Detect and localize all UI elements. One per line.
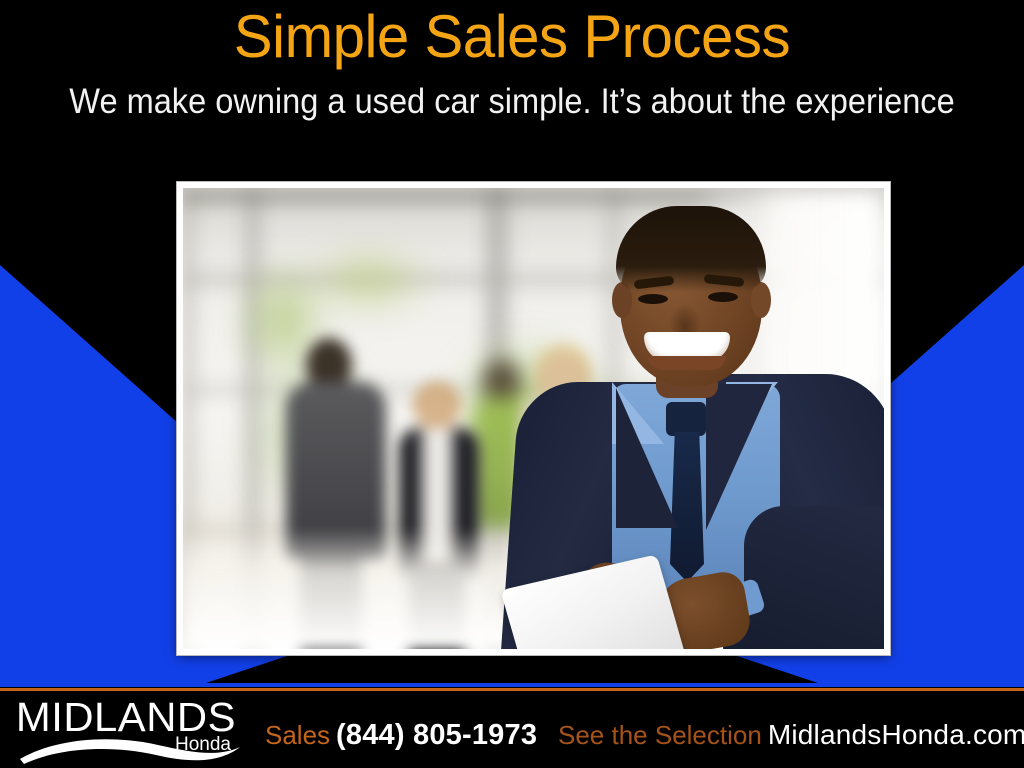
page-title: Simple Sales Process: [15, 4, 1008, 70]
header: Simple Sales Process We make owning a us…: [0, 0, 1024, 145]
lower-lip: [648, 356, 726, 370]
hero-photo-frame: [177, 182, 890, 655]
suit-lapel-left: [616, 388, 678, 528]
logo-sub-brand-text: Honda: [175, 735, 231, 755]
website-url[interactable]: MidlandsHonda.com: [768, 719, 1024, 750]
page-subtitle: We make owning a used car simple. It’s a…: [36, 82, 988, 122]
sales-contact[interactable]: Sales(844) 805-1973: [265, 719, 537, 752]
divider-blue: [0, 683, 1024, 687]
selection-cta[interactable]: See the SelectionMidlandsHonda.com: [558, 719, 1024, 751]
eye-left: [638, 294, 668, 304]
eye-right: [708, 292, 738, 302]
suit-lapel-right: [706, 384, 772, 530]
footer-bar: MIDLANDS Honda Sales(844) 805-1973 See t…: [0, 691, 1024, 768]
sales-phone-number[interactable]: (844) 805-1973: [336, 719, 537, 751]
slide-canvas: Simple Sales Process We make owning a us…: [0, 0, 1024, 768]
sales-label: Sales: [265, 720, 330, 750]
dealership-logo[interactable]: MIDLANDS Honda: [18, 695, 243, 765]
selection-label: See the Selection: [558, 720, 762, 750]
arm-right: [744, 506, 884, 649]
hero-photo: [183, 188, 884, 649]
foreground-subject: [183, 188, 884, 649]
